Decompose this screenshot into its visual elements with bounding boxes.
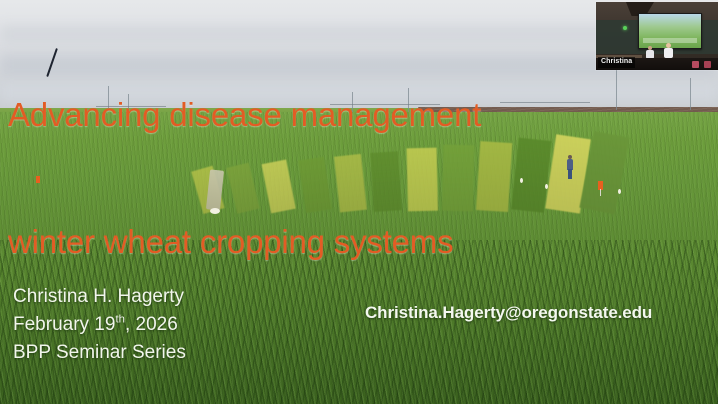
presenter-body <box>664 48 673 58</box>
exit-sign-icon <box>623 26 627 30</box>
slide-byline: Christina H. Hagerty February 19th, 2026… <box>13 283 186 367</box>
seminar-series-name: BPP Seminar Series <box>13 339 186 367</box>
presentation-date: February 19th, 2026 <box>13 311 186 339</box>
plot-stake <box>618 189 621 194</box>
utility-pole-icon <box>616 70 617 110</box>
participant-name-label: Christina <box>598 57 635 68</box>
date-ordinal-suffix: th <box>115 313 125 325</box>
date-prefix: February 19 <box>13 314 115 335</box>
presenter-name: Christina H. Hagerty <box>13 283 186 311</box>
audience-chair <box>692 61 699 68</box>
presentation-slide: Advancing disease management winter whea… <box>0 0 718 404</box>
audience-chair <box>704 61 711 68</box>
utility-pole-icon <box>690 78 691 110</box>
presenter-email: Christina.Hagerty@oregonstate.edu <box>365 303 652 323</box>
slide-title-line-1: Advancing disease management <box>8 94 608 136</box>
video-participant-tile[interactable]: Christina <box>596 2 718 70</box>
date-suffix: , 2026 <box>125 314 178 335</box>
slide-title-line-2: winter wheat cropping systems <box>8 221 608 263</box>
